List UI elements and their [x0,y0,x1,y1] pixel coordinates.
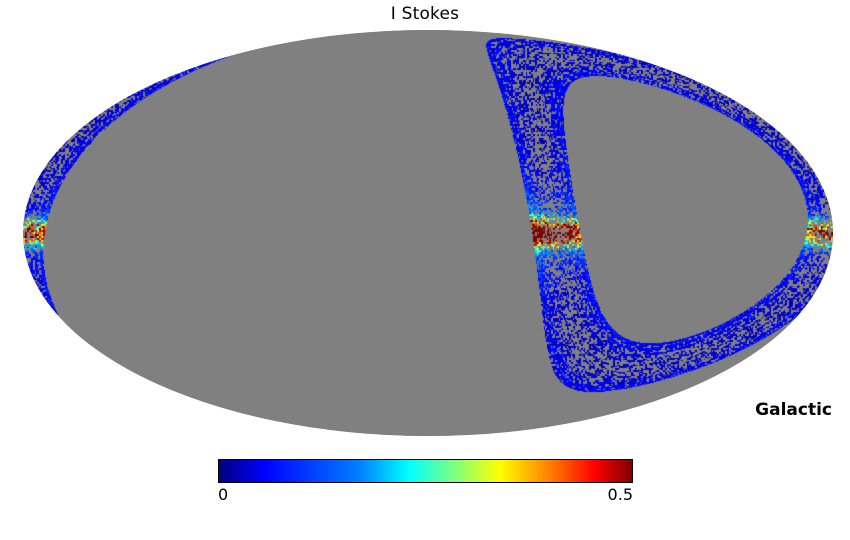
colorbar-min-label: 0 [218,485,228,504]
page-title: I Stokes [0,4,850,24]
sky-map-projection [23,30,833,436]
coordinate-system-label: Galactic [755,400,832,420]
colorbar-max-label: 0.5 [608,485,633,504]
sky-map-data-layer [23,30,833,436]
colorbar: 0 0.5 [218,459,633,507]
colorbar-gradient [218,459,633,483]
colorbar-tick-labels: 0 0.5 [218,485,633,507]
